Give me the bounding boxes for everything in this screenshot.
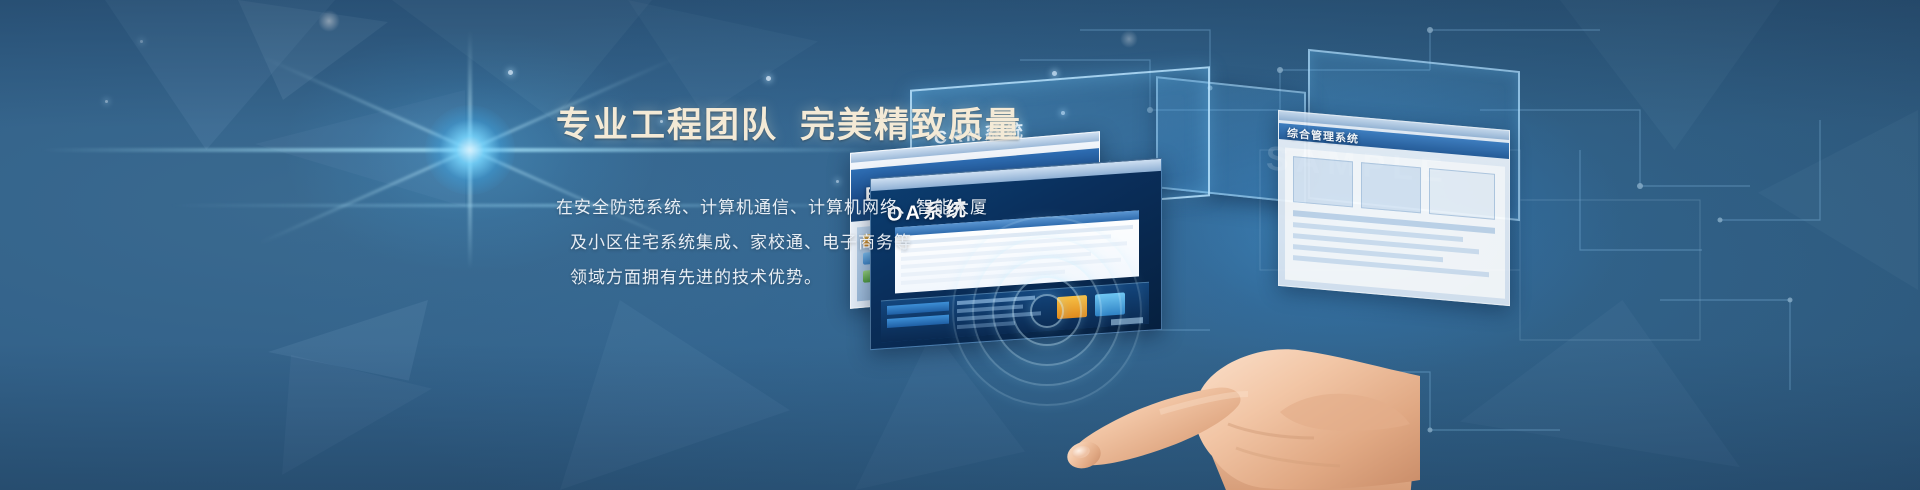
headline-part-2: 完美精致质量 [800,106,1022,145]
decor-polygon-6 [560,300,790,490]
decor-particle [105,100,108,103]
hero-banner: SAMPLE 综合管理系统 CRM系统 [0,0,1920,490]
decor-sparkle [318,10,340,32]
manager-window-title: 综合管理系统 [1287,125,1359,147]
page-title: 专业工程团队完美精致质量 [556,104,1026,148]
decor-particle [508,70,513,75]
decor-particle [766,76,771,81]
software-collage: SAMPLE 综合管理系统 CRM系统 [960,0,1920,490]
decor-particle [140,40,143,43]
pointing-hand-icon [980,180,1420,490]
description-line-3: 领域方面拥有先进的技术优势。 [556,260,1026,295]
description-line-1: 在安全防范系统、计算机通信、计算机网络、智能大厦 [556,190,1026,225]
decor-polygon-8 [628,0,818,115]
hero-copy: 专业工程团队完美精致质量 在安全防范系统、计算机通信、计算机网络、智能大厦 及小… [556,104,1026,295]
flare-vertical-ray [468,30,472,270]
description-line-2: 及小区住宅系统集成、家校通、电子商务等 [556,225,1026,260]
hero-description: 在安全防范系统、计算机通信、计算机网络、智能大厦 及小区住宅系统集成、家校通、电… [556,190,1026,295]
decor-polygon-2 [255,90,465,240]
headline-part-1: 专业工程团队 [556,106,778,145]
